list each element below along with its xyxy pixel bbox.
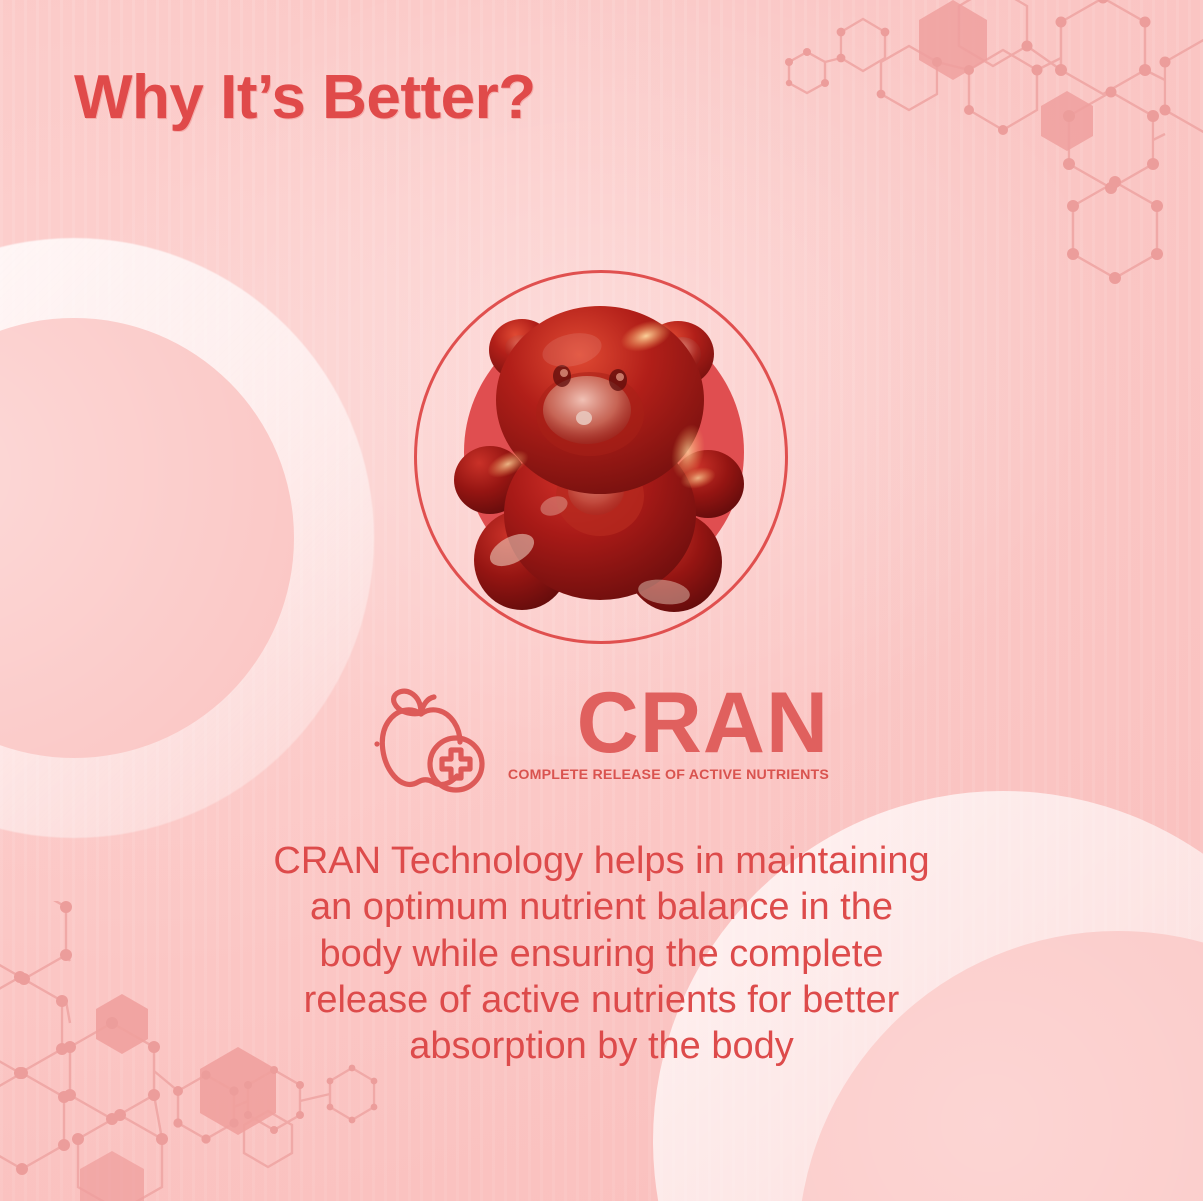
poster-canvas: Why It’s Better? [0,0,1203,1201]
cran-logo-title: CRAN [577,684,829,763]
cran-logo-tagline: COMPLETE RELEASE OF ACTIVE NUTRIENTS [508,767,829,783]
body-copy-line: absorption by the body [202,1023,1002,1069]
poster-content: Why It’s Better? [0,0,1203,1201]
body-copy-line: CRAN Technology helps in maintaining [202,838,1002,884]
body-copy-line: body while ensuring the complete [202,931,1002,977]
body-copy-line: release of active nutrients for better [202,977,1002,1023]
cran-logo: CRAN COMPLETE RELEASE OF ACTIVE NUTRIENT… [0,684,1203,798]
page-title: Why It’s Better? [74,62,536,133]
cran-wordmark: CRAN COMPLETE RELEASE OF ACTIVE NUTRIENT… [508,684,829,783]
body-copy-line: an optimum nutrient balance in the [202,884,1002,930]
apple-medical-cross-icon [374,686,492,798]
product-highlight-circle [414,270,788,644]
body-copy: CRAN Technology helps in maintaining an … [202,838,1002,1070]
gummy-bear-icon [450,292,750,622]
